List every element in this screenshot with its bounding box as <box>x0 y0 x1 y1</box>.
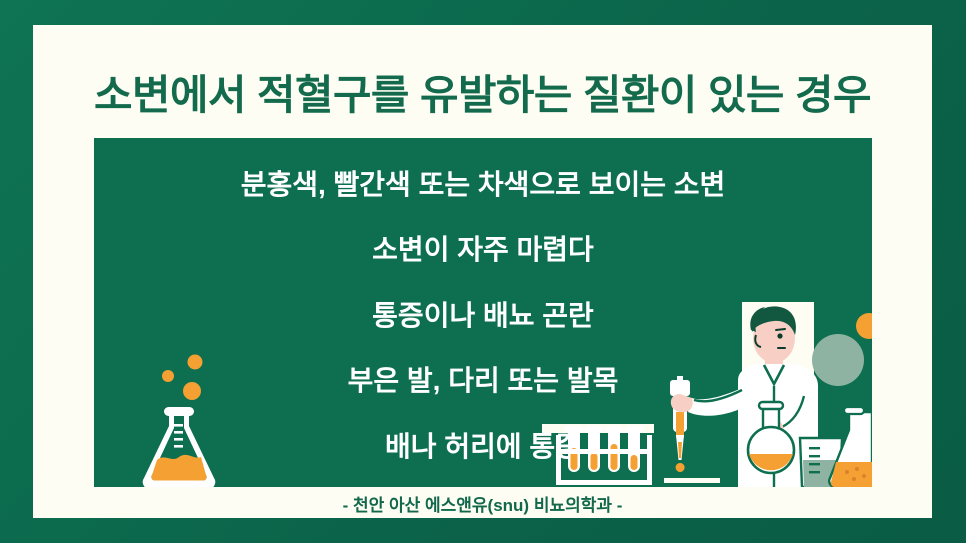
poster-root: 소변에서 적혈구를 유발하는 질환이 있는 경우 <box>0 0 966 543</box>
symptom-panel: 분홍색, 빨간색 또는 차색으로 보이는 소변 소변이 자주 마렵다 통증이나 … <box>94 138 872 487</box>
page-title: 소변에서 적혈구를 유발하는 질환이 있는 경우 <box>24 61 941 121</box>
symptom-list: 분홍색, 빨간색 또는 차색으로 보이는 소변 소변이 자주 마렵다 통증이나 … <box>94 170 872 461</box>
footer-credit: - 천안 아산 에스앤유(snu) 비뇨의학과 - <box>33 491 932 516</box>
list-item: 소변이 자주 마렵다 <box>94 235 872 264</box>
list-item: 부은 발, 다리 또는 발목 <box>94 366 872 395</box>
list-item: 배나 허리에 통증 <box>94 432 872 461</box>
list-item: 통증이나 배뇨 곤란 <box>94 301 872 330</box>
list-item: 분홍색, 빨간색 또는 차색으로 보이는 소변 <box>94 170 872 199</box>
poster-frame: 소변에서 적혈구를 유발하는 질환이 있는 경우 <box>33 25 932 518</box>
